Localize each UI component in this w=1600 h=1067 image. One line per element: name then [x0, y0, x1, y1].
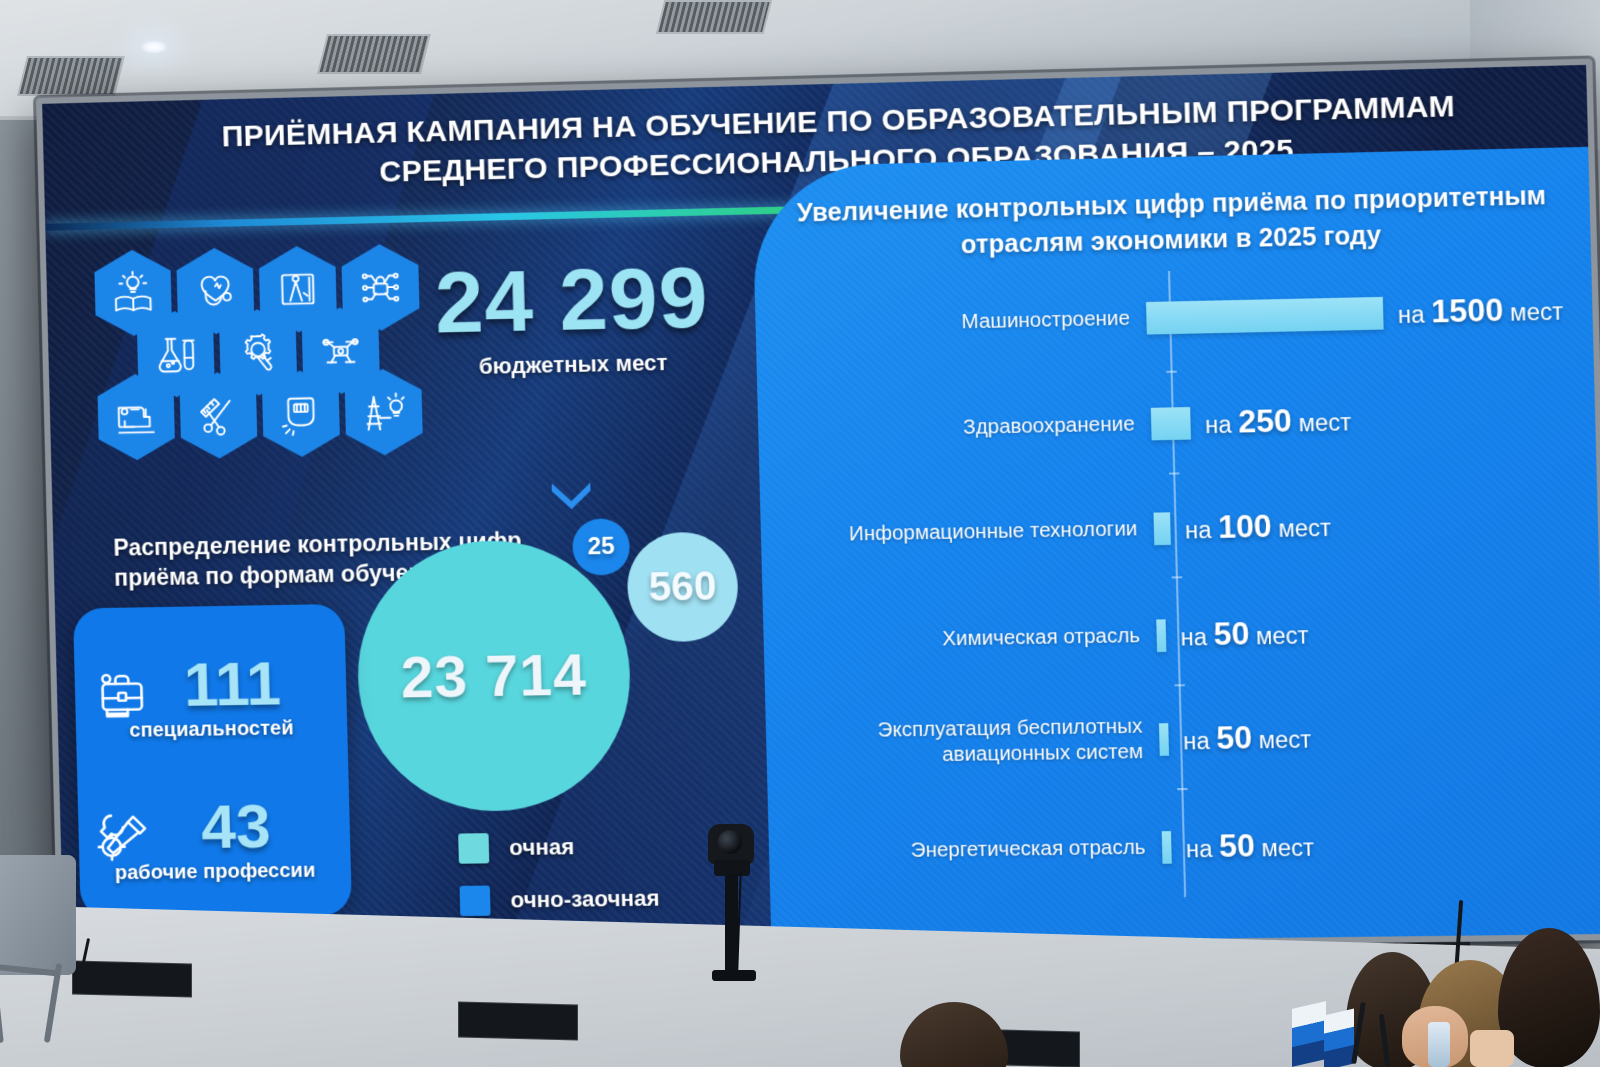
- bar-category-label: Эксплуатация беспилотных авиационных сис…: [807, 714, 1160, 770]
- axis-tick: [1172, 576, 1182, 578]
- chart-row: Информационные технологии на 100 мест: [801, 491, 1569, 566]
- bar-category-label: Машиностроение: [796, 306, 1147, 339]
- water-bottle: [1428, 1022, 1450, 1067]
- headline-number: 24 299: [408, 253, 735, 347]
- bar: [1162, 831, 1172, 864]
- bar-value-label: на 1500 мест: [1397, 291, 1563, 331]
- bar-value-suffix: мест: [1261, 834, 1314, 861]
- stat-specialties: 111 специальностей: [74, 652, 347, 743]
- bar-value-label: на 50 мест: [1183, 719, 1312, 758]
- bar-category-label: Энергетическая отрасль: [810, 835, 1163, 865]
- person-hand: [1470, 1030, 1514, 1067]
- legend-label: очная: [509, 834, 575, 861]
- axis-tick: [1174, 684, 1184, 686]
- bar: [1151, 407, 1191, 440]
- bar-value-number: 1500: [1431, 292, 1504, 329]
- bar-value-prefix: на: [1183, 728, 1210, 755]
- bar-value-suffix: мест: [1510, 298, 1564, 326]
- bar-category-label: Химическая отрасль: [804, 623, 1157, 654]
- bar-value-label: на 250 мест: [1205, 402, 1352, 442]
- conference-room: ПРИЁМНАЯ КАМПАНИЯ НА ОБУЧЕНИЕ ПО ОБРАЗОВ…: [0, 0, 1600, 1067]
- bar-value-suffix: мест: [1256, 622, 1309, 649]
- bar-value-suffix: мест: [1278, 514, 1331, 541]
- bar-value-number: 250: [1238, 403, 1293, 440]
- profession-icon-grid: [94, 243, 431, 461]
- bar-value-number: 50: [1219, 828, 1256, 864]
- bar-value-prefix: на: [1398, 301, 1425, 328]
- ceiling-vent: [656, 0, 772, 34]
- chart-title: Увеличение контрольных цифр приёма по пр…: [793, 179, 1551, 267]
- bar-value-prefix: на: [1205, 411, 1232, 438]
- legend-swatch-ochno-zaochnaya: [459, 886, 490, 917]
- bar-category-label: Информационные технологии: [802, 516, 1155, 548]
- bar-value-label: на 100 мест: [1184, 507, 1331, 546]
- slide-canvas: ПРИЁМНАЯ КАМПАНИЯ НА ОБУЧЕНИЕ ПО ОБРАЗОВ…: [42, 65, 1600, 952]
- ceiling-spotlight: [140, 40, 168, 54]
- bar-value-prefix: на: [1185, 517, 1212, 544]
- desk-flag: [1324, 1009, 1354, 1067]
- bar-value-number: 100: [1218, 508, 1273, 545]
- ceiling-vent: [17, 56, 125, 96]
- bubble-ochnaya: 23 714: [355, 538, 634, 812]
- chart-row: Здравоохранение на 250 мест: [798, 385, 1566, 461]
- bar-value-number: 50: [1216, 720, 1253, 756]
- bar-value-suffix: мест: [1298, 409, 1351, 437]
- chair-back: [0, 855, 76, 975]
- ptz-camera: [694, 824, 766, 984]
- chair-leg: [0, 971, 4, 1043]
- desk-flag: [1292, 1001, 1326, 1067]
- bar: [1153, 512, 1170, 545]
- axis-tick: [1177, 788, 1187, 790]
- chart-axis: [1168, 271, 1186, 897]
- bar-value-suffix: мест: [1258, 726, 1311, 753]
- bar-value-prefix: на: [1186, 836, 1213, 863]
- chart-row: Машиностроение на 1500 мест: [796, 279, 1564, 357]
- bar: [1156, 619, 1166, 652]
- wall-vent: [458, 1002, 578, 1041]
- ceiling-vent: [317, 34, 431, 74]
- chart-row: Эксплуатация беспилотных авиационных сис…: [806, 703, 1574, 775]
- legend-label: очно-заочная: [510, 885, 660, 913]
- led-video-wall: ПРИЁМНАЯ КАМПАНИЯ НА ОБУЧЕНИЕ ПО ОБРАЗОВ…: [36, 59, 1600, 958]
- chart-row: Энергетическая отрасль на 50 мест: [809, 811, 1577, 882]
- headline-metric: 24 299 бюджетных мест: [408, 253, 736, 381]
- axis-tick: [1169, 472, 1179, 474]
- priority-sectors-panel: Увеличение контрольных цифр приёма по пр…: [752, 147, 1600, 944]
- bar-value-label: на 50 мест: [1180, 615, 1309, 654]
- bar-value-prefix: на: [1180, 624, 1207, 651]
- headline-caption: бюджетных мест: [411, 348, 737, 381]
- bar-value-number: 50: [1213, 616, 1250, 652]
- bar: [1146, 297, 1384, 335]
- office-chair: [0, 855, 140, 1067]
- camera-lens-icon: [718, 830, 742, 854]
- bubble-zaochnaya: 560: [626, 531, 739, 642]
- legend-item: очная: [458, 831, 658, 864]
- briefcase-icon: [90, 661, 154, 724]
- chart-row: Химическая отрасль на 50 мест: [804, 598, 1572, 672]
- bar-value-label: на 50 мест: [1185, 827, 1314, 865]
- camera-foot: [712, 970, 756, 981]
- bar: [1159, 723, 1169, 756]
- axis-tick: [1166, 371, 1176, 373]
- legend-item: очно-заочная: [459, 883, 659, 916]
- legend-swatch-ochnaya: [458, 833, 489, 864]
- bubble-ochno-zaochnaya: 25: [572, 518, 630, 576]
- chevron-down-icon: [549, 478, 595, 514]
- bar-category-label: Здравоохранение: [799, 411, 1152, 443]
